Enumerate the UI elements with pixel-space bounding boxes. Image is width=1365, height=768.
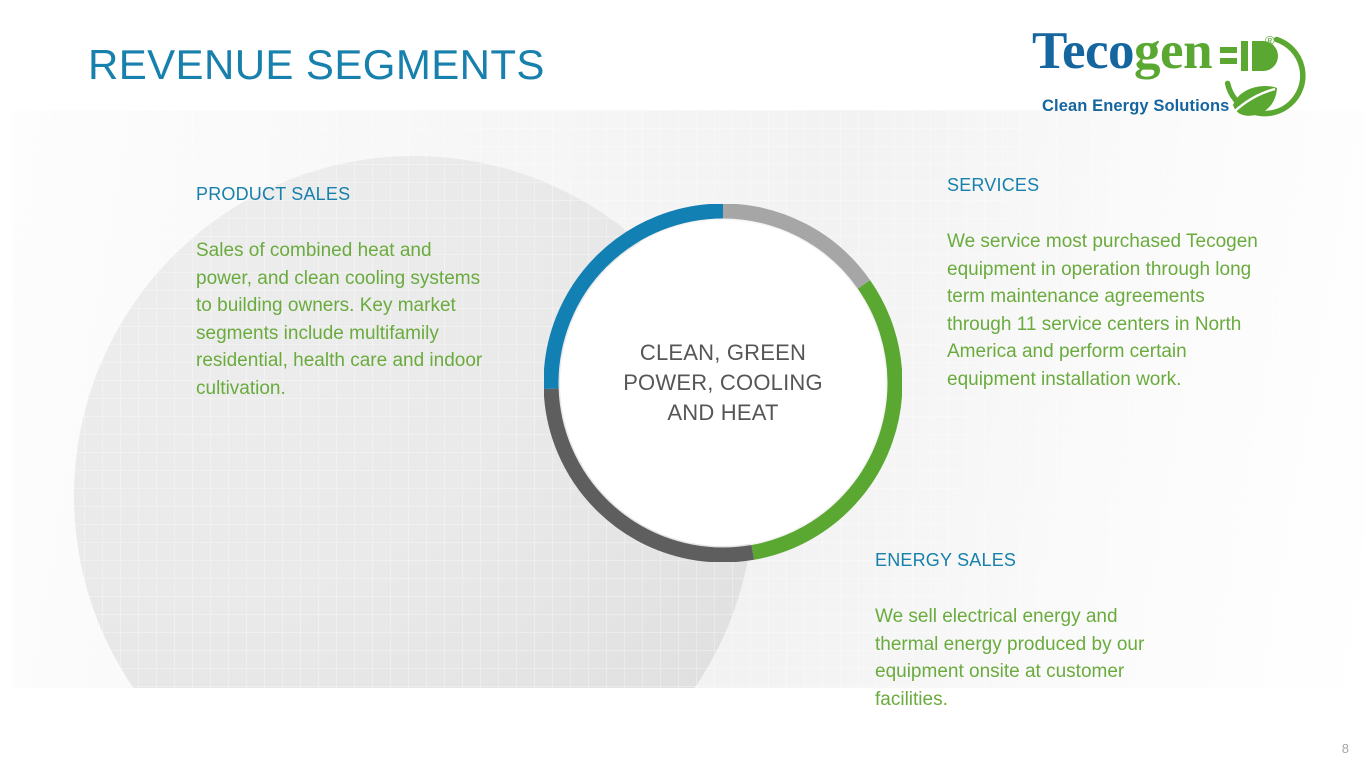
segment-body-product-sales: Sales of combined heat and power, and cl… — [196, 237, 486, 402]
plug-icon — [1220, 41, 1278, 71]
donut-center-line-2: POWER, COOLING — [623, 368, 823, 398]
segment-heading-product-sales: PRODUCT SALES — [196, 184, 350, 205]
revenue-donut-chart: CLEAN, GREEN POWER, COOLING AND HEAT — [544, 204, 902, 562]
page-number: 8 — [1342, 741, 1349, 756]
segment-heading-energy-sales: ENERGY SALES — [875, 550, 1016, 571]
donut-center-line-1: CLEAN, GREEN — [640, 338, 806, 368]
slide-canvas: REVENUE SEGMENTS Tecogen ® Clean Energy … — [0, 0, 1365, 768]
segment-body-energy-sales: We sell electrical energy and thermal en… — [875, 603, 1165, 713]
logo-word-gen: gen — [1134, 22, 1212, 80]
page-title: REVENUE SEGMENTS — [88, 41, 545, 89]
segment-heading-services: SERVICES — [947, 175, 1039, 196]
segment-body-services: We service most purchased Tecogen equipm… — [947, 228, 1259, 393]
donut-center-label: CLEAN, GREEN POWER, COOLING AND HEAT — [544, 204, 902, 562]
donut-center-line-3: AND HEAT — [667, 398, 778, 428]
logo-tagline: Clean Energy Solutions — [1042, 97, 1229, 116]
logo-mark-graphic — [1218, 31, 1308, 123]
logo-word-teco: Teco — [1032, 22, 1134, 80]
company-logo: Tecogen ® Clean Energy Solutions — [1032, 25, 1304, 125]
logo-wordmark: Tecogen — [1032, 25, 1212, 78]
